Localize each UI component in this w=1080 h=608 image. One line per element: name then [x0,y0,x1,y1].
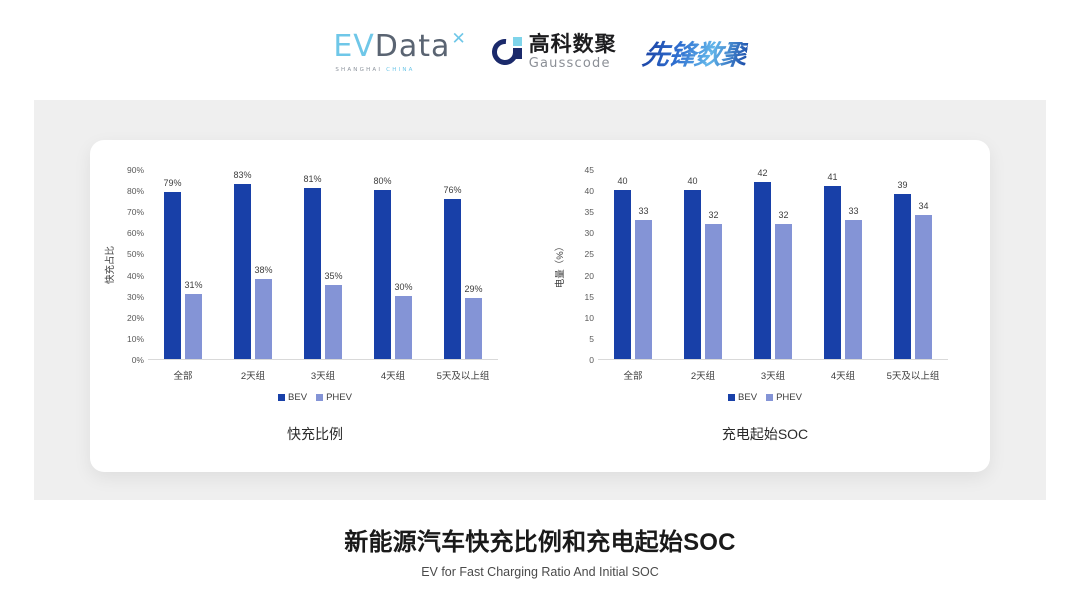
bar-value-label: 40 [687,176,697,186]
bar-phev[interactable]: 38% [255,279,272,359]
bar-value-label: 41 [827,172,837,182]
bar-group: 4232 [738,169,808,359]
legend-label: BEV [738,392,757,403]
bar-fill [395,296,412,359]
chart-caption: 快充比例 [90,424,540,444]
legend-item-bev[interactable]: BEV [728,392,757,403]
bar-fill [325,285,342,359]
bar-group: 83%38% [218,169,288,359]
y-axis-tick-label: 30 [585,229,594,238]
bar-fill [754,182,771,359]
bar-value-label: 32 [708,210,718,220]
logo-bar: EV Data ✕ SHANGHAI CHINA 高科数聚 Gausscode … [0,24,1080,80]
bar-value-label: 30% [394,282,412,292]
evdata-logo: EV Data ✕ SHANGHAI CHINA [333,32,465,73]
legend-item-phev[interactable]: PHEV [316,392,352,403]
bar-phev[interactable]: 33 [635,220,652,359]
bar-group: 79%31% [148,169,218,359]
bar-value-label: 80% [373,176,391,186]
x-axis-labels: 全部2天组3天组4天组5天及以上组 [148,368,498,384]
y-axis-tick-label: 10 [585,314,594,323]
bar-value-label: 31% [184,280,202,290]
footer: 新能源汽车快充比例和充电起始SOC EV for Fast Charging R… [0,528,1080,579]
chart-legend: BEVPHEV [90,392,540,403]
y-axis-tick-label: 30% [127,292,144,301]
bar-fill [444,199,461,359]
y-axis-tick-label: 35 [585,208,594,217]
bar-value-label: 32 [778,210,788,220]
bar-phev[interactable]: 31% [185,294,202,359]
gausscode-en-text: Gausscode [529,57,617,70]
bar-value-label: 40 [617,176,627,186]
bar-group: 4032 [668,169,738,359]
y-axis-tick-label: 90% [127,166,144,175]
plot-area: 79%31%83%38%81%35%80%30%76%29% [148,170,498,360]
y-axis-tick-label: 0 [589,356,594,365]
bar-fill [824,186,841,359]
x-axis-tick-label: 4天组 [831,368,855,382]
charts-card: 快充占比0%10%20%30%40%50%60%70%80%90%79%31%8… [90,140,990,472]
bar-fill [234,184,251,359]
y-axis-tick-label: 50% [127,250,144,259]
bar-bev[interactable]: 76% [444,199,461,359]
evdata-x-icon: ✕ [451,30,465,47]
bar-fill [635,220,652,359]
y-axis-labels: 0%10%20%30%40%50%60%70%80%90% [110,170,144,360]
bar-value-label: 39 [897,180,907,190]
y-axis-tick-label: 5 [589,335,594,344]
chart-panel-initial-soc: 电量（%）05101520253035404540334032423241333… [540,140,990,472]
y-axis-tick-label: 40% [127,271,144,280]
xianfeng-cn-text: 先锋数聚 [640,33,749,72]
x-axis-tick-label: 2天组 [241,368,265,382]
bar-bev[interactable]: 40 [684,190,701,359]
bar-group: 76%29% [428,169,498,359]
chart-legend: BEVPHEV [540,392,990,403]
y-axis-tick-label: 80% [127,187,144,196]
page-subtitle: EV for Fast Charging Ratio And Initial S… [0,565,1080,579]
x-axis-tick-label: 4天组 [381,368,405,382]
bar-fill [465,298,482,359]
bar-phev[interactable]: 30% [395,296,412,359]
plot-area: 40334032423241333934 [598,170,948,360]
bar-fill [185,294,202,359]
y-axis-tick-label: 15 [585,292,594,301]
bar-fill [255,279,272,359]
y-axis-tick-label: 25 [585,250,594,259]
bar-value-label: 81% [303,174,321,184]
bar-bev[interactable]: 40 [614,190,631,359]
bar-value-label: 42 [757,168,767,178]
evdata-ev-text: EV [333,32,374,62]
legend-item-bev[interactable]: BEV [278,392,307,403]
bar-value-label: 35% [324,271,342,281]
bar-value-label: 33 [638,206,648,216]
chart-caption: 充电起始SOC [540,424,990,444]
bar-value-label: 79% [163,178,181,188]
bar-phev[interactable]: 34 [915,215,932,359]
legend-item-phev[interactable]: PHEV [766,392,802,403]
x-axis-labels: 全部2天组3天组4天组5天及以上组 [598,368,948,384]
bar-fill [614,190,631,359]
bar-value-label: 29% [464,284,482,294]
legend-label: PHEV [776,392,802,403]
bar-fill [304,188,321,359]
evdata-tagline: SHANGHAI CHINA [335,67,414,73]
bar-group: 4033 [598,169,668,359]
bar-value-label: 34 [918,201,928,211]
x-axis-tick-label: 全部 [173,368,192,382]
evdata-wordmark: EV Data ✕ [333,32,465,62]
bar-bev[interactable]: 81% [304,188,321,359]
y-axis-tick-label: 0% [132,356,144,365]
bar-fill [164,192,181,359]
legend-label: BEV [288,392,307,403]
y-axis-labels: 051015202530354045 [560,170,594,360]
bar-bev[interactable]: 83% [234,184,251,359]
legend-swatch-icon [728,394,735,401]
page-title: 新能源汽车快充比例和充电起始SOC [0,528,1080,558]
bar-group: 4133 [808,169,878,359]
xianfeng-logo: 先锋数聚 [643,33,747,72]
bar-fill [684,190,701,359]
evdata-data-text: Data [375,32,451,62]
charts-container: 快充占比0%10%20%30%40%50%60%70%80%90%79%31%8… [90,140,990,472]
x-axis-tick-label: 全部 [623,368,642,382]
bar-fill [915,215,932,359]
bar-phev[interactable]: 32 [705,224,722,359]
bar-group: 80%30% [358,169,428,359]
bar-phev[interactable]: 32 [775,224,792,359]
evdata-tagline-country: CHINA [386,67,414,73]
bar-fill [374,190,391,359]
gausscode-cn-text: 高科数聚 [529,34,617,55]
legend-swatch-icon [766,394,773,401]
bar-bev[interactable]: 80% [374,190,391,359]
bar-value-label: 76% [443,185,461,195]
bar-phev[interactable]: 35% [325,285,342,359]
y-axis-tick-label: 70% [127,208,144,217]
bar-value-label: 38% [254,265,272,275]
legend-swatch-icon [278,394,285,401]
bar-fill [775,224,792,359]
bar-group: 3934 [878,169,948,359]
bar-value-label: 83% [233,170,251,180]
x-axis-tick-label: 3天组 [311,368,335,382]
chart-panel-fast-charging-ratio: 快充占比0%10%20%30%40%50%60%70%80%90%79%31%8… [90,140,540,472]
bar-bev[interactable]: 42 [754,182,771,359]
bar-fill [845,220,862,359]
x-axis-tick-label: 2天组 [691,368,715,382]
bar-fill [705,224,722,359]
evdata-tagline-city: SHANGHAI [335,67,386,73]
slide-root: EV Data ✕ SHANGHAI CHINA 高科数聚 Gausscode … [0,0,1080,608]
bar-phev[interactable]: 29% [465,298,482,359]
bar-bev[interactable]: 79% [164,192,181,359]
gausscode-wordmark: 高科数聚 Gausscode [529,34,617,70]
y-axis-tick-label: 10% [127,335,144,344]
x-axis-tick-label: 3天组 [761,368,785,382]
gausscode-mark-icon [492,37,522,67]
x-axis-tick-label: 5天及以上组 [437,368,490,382]
bar-bev[interactable]: 39 [894,194,911,359]
bar-fill [894,194,911,359]
gausscode-logo: 高科数聚 Gausscode [492,34,617,70]
x-axis-tick-label: 5天及以上组 [887,368,940,382]
y-axis-tick-label: 20 [585,271,594,280]
bar-value-label: 33 [848,206,858,216]
y-axis-tick-label: 45 [585,166,594,175]
y-axis-tick-label: 20% [127,314,144,323]
bar-phev[interactable]: 33 [845,220,862,359]
y-axis-tick-label: 60% [127,229,144,238]
y-axis-tick-label: 40 [585,187,594,196]
legend-swatch-icon [316,394,323,401]
legend-label: PHEV [326,392,352,403]
bar-bev[interactable]: 41 [824,186,841,359]
bar-group: 81%35% [288,169,358,359]
